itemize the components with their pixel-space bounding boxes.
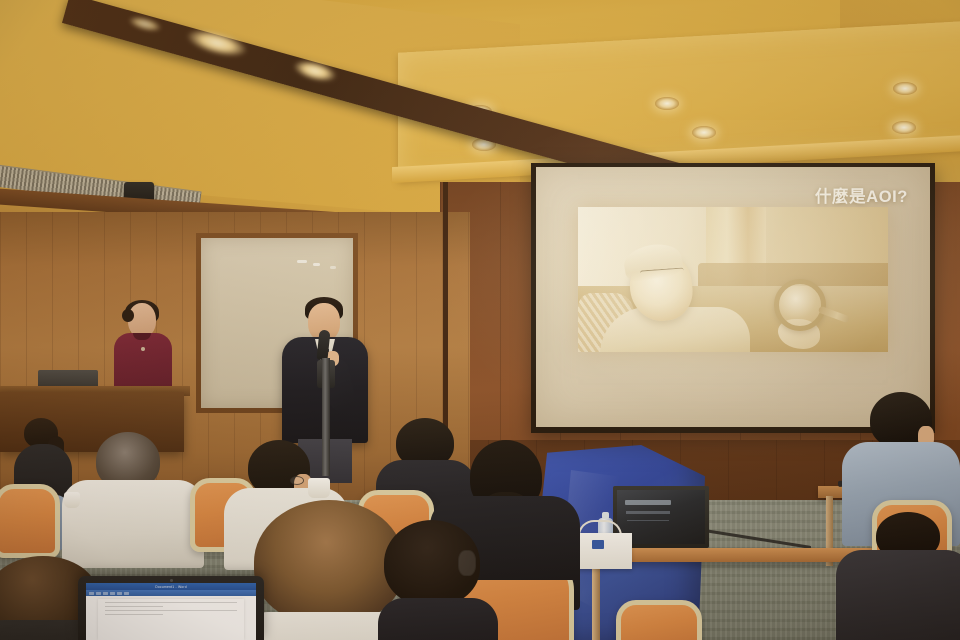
audience-member [384, 520, 494, 640]
document-titlebar-text: Document1 - Word [155, 585, 187, 589]
webcam-icon [170, 579, 173, 582]
glare-highlight [297, 260, 307, 263]
document-text-line [105, 606, 163, 607]
chair [616, 600, 702, 640]
eyeglasses-icon [290, 476, 304, 485]
document-titlebar: Document1 - Word [86, 583, 256, 590]
downlight-icon [893, 82, 917, 95]
ribbon-button[interactable] [103, 592, 108, 595]
projection-screen-surface: 什麼是AOI? [536, 167, 930, 427]
audience-member [836, 512, 960, 640]
conference-room-photo: 什麼是AOI? [0, 0, 960, 640]
paper-cup [64, 492, 80, 508]
foreground-laptop-screen[interactable]: Document1 - Word [86, 583, 256, 640]
paper-cup [308, 478, 330, 498]
document-ribbon[interactable] [86, 590, 256, 596]
eyeglasses-icon [458, 550, 476, 576]
document-text-line [105, 602, 237, 603]
paper-bag-logo [592, 540, 604, 549]
glare-highlight [313, 263, 320, 266]
downlight-icon [892, 121, 916, 134]
table-center-right-leg [592, 560, 600, 640]
downlight-icon [655, 97, 679, 110]
glare-highlight [330, 266, 336, 269]
ribbon-button[interactable] [117, 592, 122, 595]
ribbon-button[interactable] [110, 592, 115, 595]
downlight-icon [692, 126, 716, 139]
document-text-line [105, 610, 237, 611]
audience-body [62, 480, 204, 568]
document-text-line [105, 614, 163, 615]
assistant-hair-bun [122, 309, 134, 322]
audience-head [254, 500, 404, 624]
slide-photo [578, 207, 888, 352]
ribbon-button[interactable] [89, 592, 94, 595]
photo-magnifier-icon [774, 279, 826, 331]
ribbon-button[interactable] [124, 592, 129, 595]
chair [0, 484, 60, 558]
assistant-button [141, 347, 145, 351]
audience-member [62, 432, 202, 562]
ribbon-button[interactable] [96, 592, 101, 595]
document-page[interactable] [98, 599, 244, 640]
audience-body [378, 598, 498, 640]
foreground-laptop[interactable]: Document1 - Word [78, 576, 264, 640]
audience-body [836, 550, 960, 640]
slide-title: 什麼是AOI? [536, 167, 930, 207]
